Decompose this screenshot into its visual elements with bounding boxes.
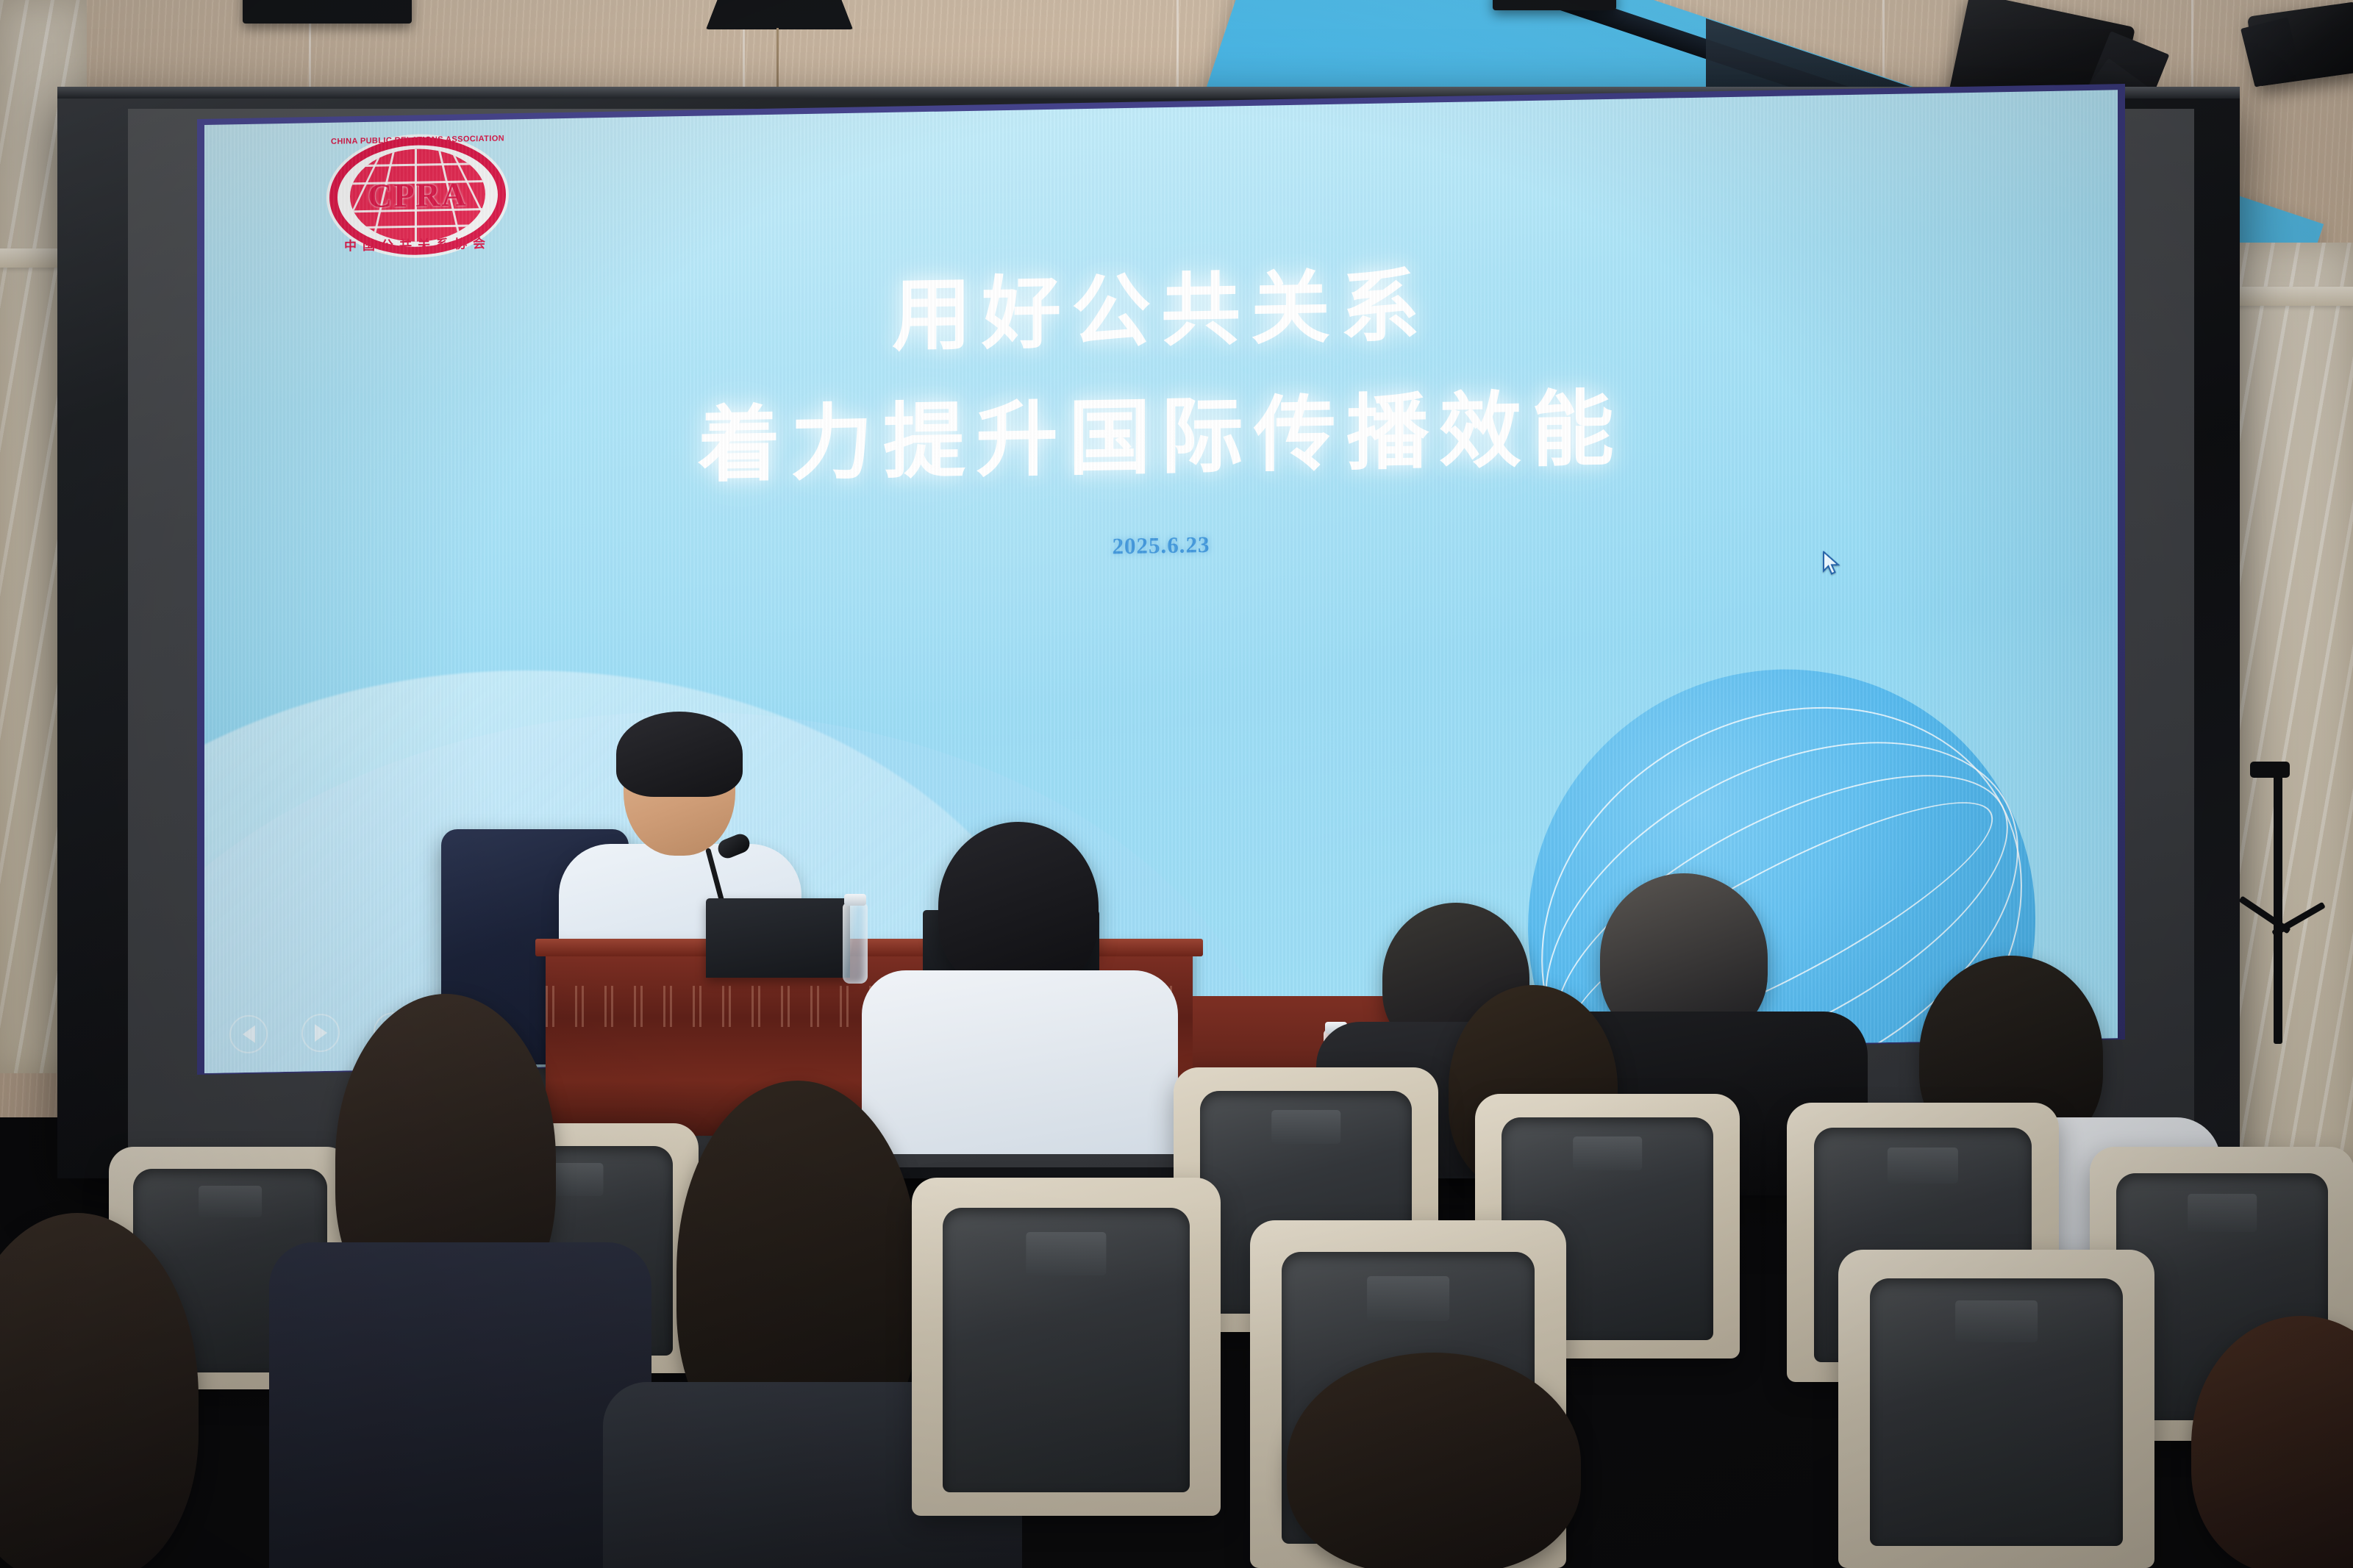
seat-headrest-tab <box>1955 1300 2038 1342</box>
seat-headrest-tab <box>1271 1110 1340 1145</box>
next-slide-button[interactable] <box>301 1014 340 1053</box>
ceiling-mount <box>1493 0 1616 10</box>
slide-title-line-2: 着力提升国际传播效能 <box>204 353 2118 507</box>
seat-headrest-tab <box>199 1186 262 1217</box>
presenter-laptop <box>706 898 850 978</box>
audience-head-foreground <box>1287 1353 1581 1568</box>
podium-top-edge <box>535 939 1203 956</box>
logo-arc-text-top: CHINA PUBLIC RELATIONS ASSOCIATION <box>329 134 506 146</box>
speaker-hair <box>616 712 743 797</box>
seat-headrest-tab <box>2188 1194 2257 1232</box>
water-bottle-cap <box>844 894 866 906</box>
chevron-left-icon <box>243 1025 255 1043</box>
seat-headrest-tab <box>1026 1232 1106 1276</box>
water-bottle <box>843 903 868 984</box>
auditorium-seat <box>912 1178 1221 1516</box>
tripod-stand <box>2274 765 2282 1044</box>
audience-shoulders-front <box>269 1242 651 1568</box>
logo-arc-text-bottom: 中国公共关系协会 <box>329 232 506 254</box>
tripod-head <box>2250 762 2290 778</box>
ceiling-mount <box>706 0 853 29</box>
cpra-logo: CPRA CHINA PUBLIC RELATIONS ASSOCIATION … <box>329 135 506 256</box>
ceiling-mount <box>243 0 412 24</box>
logo-acronym: CPRA <box>329 173 506 215</box>
chevron-right-icon <box>315 1024 327 1042</box>
audience-head <box>938 822 1099 991</box>
auditorium-seat <box>1838 1250 2154 1568</box>
seat-headrest-tab <box>1888 1148 1958 1184</box>
seat-headrest-tab <box>1573 1136 1642 1171</box>
seat-headrest-tab <box>1367 1276 1449 1321</box>
curtain-rail-right <box>2221 287 2353 306</box>
prev-slide-button[interactable] <box>229 1014 268 1053</box>
photo-scene: LED-100W <box>0 0 2353 1568</box>
audience-shoulders <box>862 970 1178 1154</box>
